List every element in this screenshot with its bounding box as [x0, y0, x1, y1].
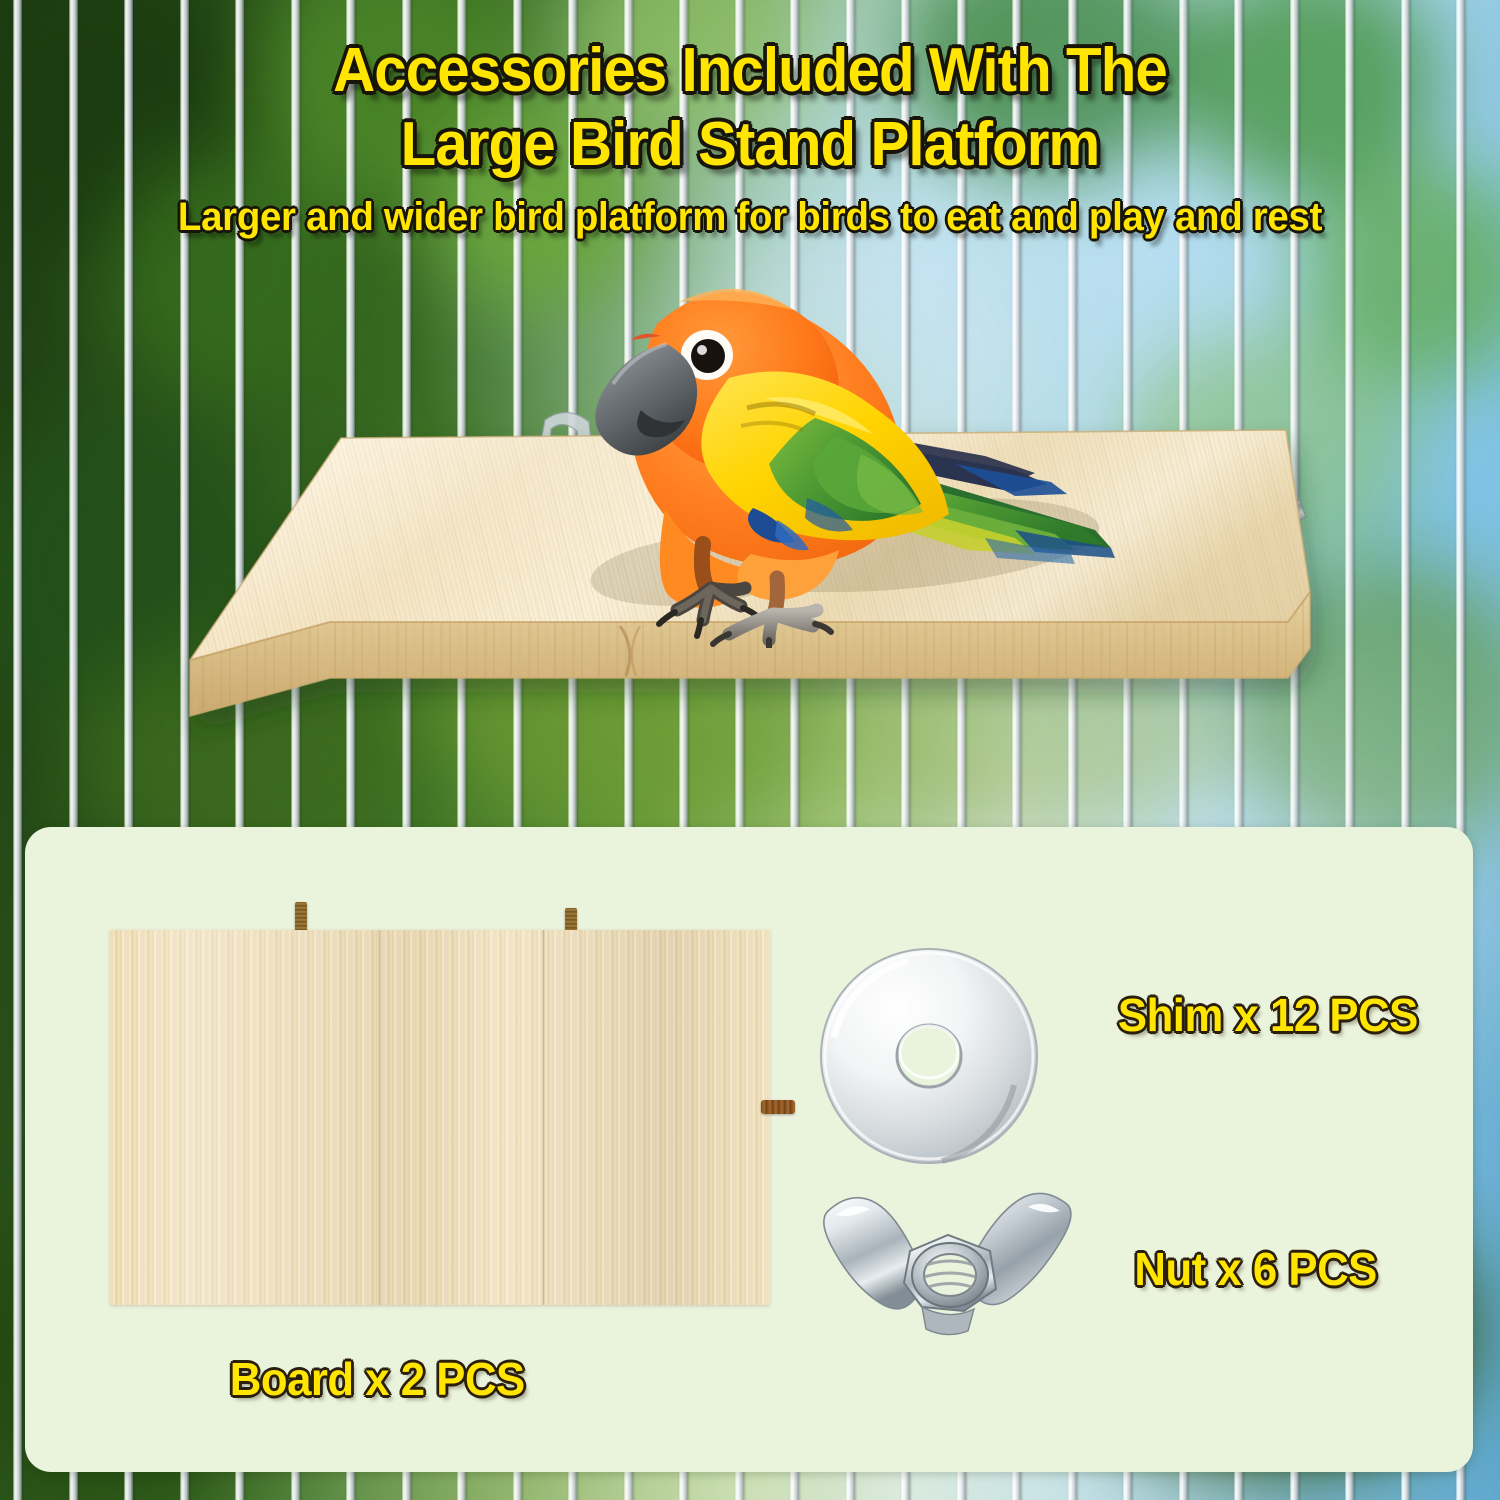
nut-quantity-label: Nut x 6 PCS [1134, 1242, 1376, 1296]
board-bolt-side-icon [761, 1100, 795, 1114]
board-seam [542, 930, 545, 1305]
metal-washer-icon [818, 945, 1040, 1167]
shim-quantity-label: Shim x 12 PCS [1118, 988, 1418, 1042]
board-quantity-label: Board x 2 PCS [230, 1352, 525, 1406]
product-image-scene: Accessories Included With The Large Bird… [0, 0, 1500, 1500]
sun-conure-parrot [515, 258, 1135, 648]
wooden-board-icon [110, 930, 770, 1305]
board-seam [378, 930, 381, 1305]
wing-nut-icon [818, 1185, 1078, 1345]
accessories-parts-panel: Shim x 12 PCS Nut x 6 PCS Board x 2 PCS [25, 827, 1473, 1472]
board-part-group [85, 902, 775, 1302]
